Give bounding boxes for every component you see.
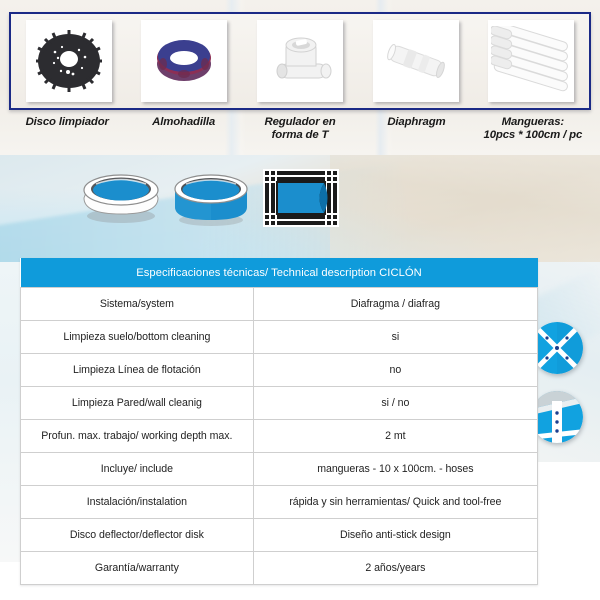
technical-specification-table: Especificaciones técnicas/ Technical des… [20, 258, 538, 585]
row-value: si / no [253, 387, 537, 420]
table-row: Instalación/instalation rápida y sin her… [21, 486, 538, 519]
row-value: Diseño anti-stick design [253, 519, 537, 552]
part-caption-0: Disco limpiador [9, 116, 125, 154]
part-caption-4: Mangueras:10pcs * 100cm / pc [475, 116, 591, 154]
floor-cleaning-pattern-badge [531, 322, 583, 374]
table-row: Limpieza suelo/bottom cleaning si [21, 321, 538, 354]
wall-climb-pattern-icon [531, 391, 583, 443]
row-label: Instalación/instalation [21, 486, 254, 519]
table-row: Limpieza Pared/wall cleanig si / no [21, 387, 538, 420]
row-value: Diafragma / diafrag [253, 288, 537, 321]
row-value: rápida y sin herramientas/ Quick and too… [253, 486, 537, 519]
in-ground-rectangular-pool-icon [262, 165, 340, 231]
row-value: 2 años/years [253, 552, 537, 585]
spare-parts-captions: Disco limpiador Almohadilla Regulador en… [9, 116, 591, 154]
wall-cleaning-pattern-badge [531, 391, 583, 443]
row-label: Garantía/warranty [21, 552, 254, 585]
pool-types-band [0, 155, 600, 262]
part-image-t-regulator [257, 20, 343, 102]
table-row: Sistema/system Diafragma / diafrag [21, 288, 538, 321]
table-row: Disco deflector/deflector disk Diseño an… [21, 519, 538, 552]
row-value: no [253, 354, 537, 387]
table-row: Profun. max. trabajo/ working depth max.… [21, 420, 538, 453]
part-image-hoses [488, 20, 574, 102]
part-caption-1: Almohadilla [125, 116, 241, 154]
steel-frame-round-pool-icon [170, 169, 252, 227]
row-label: Limpieza suelo/bottom cleaning [21, 321, 254, 354]
spare-parts-frame [9, 12, 591, 110]
part-caption-2: Regulador enforma de T [242, 116, 358, 154]
table-row: Limpieza Línea de flotación no [21, 354, 538, 387]
hoses-bundle-icon [491, 26, 571, 96]
row-label: Disco deflector/deflector disk [21, 519, 254, 552]
part-image-cleaning-disc [26, 20, 112, 102]
part-slot-4 [473, 14, 589, 108]
x-pattern-icon [531, 322, 583, 374]
inflatable-ring-pool-icon [78, 168, 164, 224]
row-label: Limpieza Pared/wall cleanig [21, 387, 254, 420]
part-caption-3: Diaphragm [358, 116, 474, 154]
table-header-row: Especificaciones técnicas/ Technical des… [21, 258, 538, 288]
row-label: Sistema/system [21, 288, 254, 321]
table-title: Especificaciones técnicas/ Technical des… [21, 258, 538, 288]
part-slot-3 [358, 14, 474, 108]
row-value: si [253, 321, 537, 354]
table-row: Incluye/ include mangueras - 10 x 100cm.… [21, 453, 538, 486]
part-slot-2 [242, 14, 358, 108]
row-label: Incluye/ include [21, 453, 254, 486]
pad-ring-icon [149, 34, 219, 88]
part-slot-1 [127, 14, 243, 108]
left-photo-wash [0, 262, 22, 562]
row-value: 2 mt [253, 420, 537, 453]
row-label: Profun. max. trabajo/ working depth max. [21, 420, 254, 453]
diaphragm-icon [379, 39, 453, 83]
part-image-diaphragm [373, 20, 459, 102]
table-row: Garantía/warranty 2 años/years [21, 552, 538, 585]
part-slot-0 [11, 14, 127, 108]
part-image-pad-ring [141, 20, 227, 102]
spare-parts-section: Disco limpiador Almohadilla Regulador en… [0, 0, 600, 155]
t-shaped-regulator-icon [264, 30, 336, 92]
row-label: Limpieza Línea de flotación [21, 354, 254, 387]
row-value: mangueras - 10 x 100cm. - hoses [253, 453, 537, 486]
cleaning-disc-icon [32, 28, 106, 94]
